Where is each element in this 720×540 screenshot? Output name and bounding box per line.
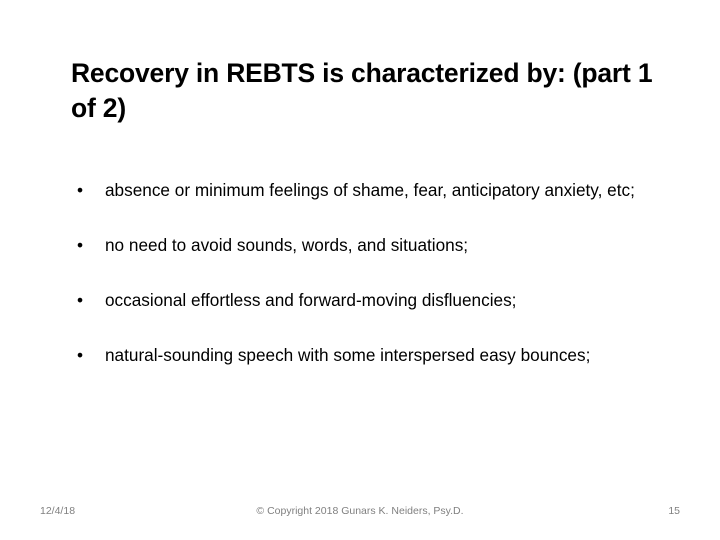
bullet-list: • absence or minimum feelings of shame, … bbox=[74, 178, 674, 368]
list-item: • absence or minimum feelings of shame, … bbox=[74, 178, 674, 203]
list-item-text: no need to avoid sounds, words, and situ… bbox=[105, 233, 674, 258]
bullet-marker-icon: • bbox=[77, 178, 83, 203]
list-item: • natural-sounding speech with some inte… bbox=[74, 343, 674, 368]
title-block: Recovery in REBTS is characterized by: (… bbox=[71, 56, 671, 126]
footer-slide-number: 15 bbox=[668, 505, 680, 517]
list-item: • occasional effortless and forward-movi… bbox=[74, 288, 674, 313]
list-item-text: absence or minimum feelings of shame, fe… bbox=[105, 178, 674, 203]
list-item-text: natural-sounding speech with some inters… bbox=[105, 343, 674, 368]
list-item-text: occasional effortless and forward-moving… bbox=[105, 288, 674, 313]
slide: Recovery in REBTS is characterized by: (… bbox=[0, 0, 720, 540]
bullet-marker-icon: • bbox=[77, 288, 83, 313]
bullet-marker-icon: • bbox=[77, 233, 83, 258]
slide-footer: 12/4/18 © Copyright 2018 Gunars K. Neide… bbox=[0, 505, 720, 527]
page-title: Recovery in REBTS is characterized by: (… bbox=[71, 56, 671, 126]
footer-copyright: © Copyright 2018 Gunars K. Neiders, Psy.… bbox=[0, 505, 720, 517]
bullet-marker-icon: • bbox=[77, 343, 83, 368]
list-item: • no need to avoid sounds, words, and si… bbox=[74, 233, 674, 258]
